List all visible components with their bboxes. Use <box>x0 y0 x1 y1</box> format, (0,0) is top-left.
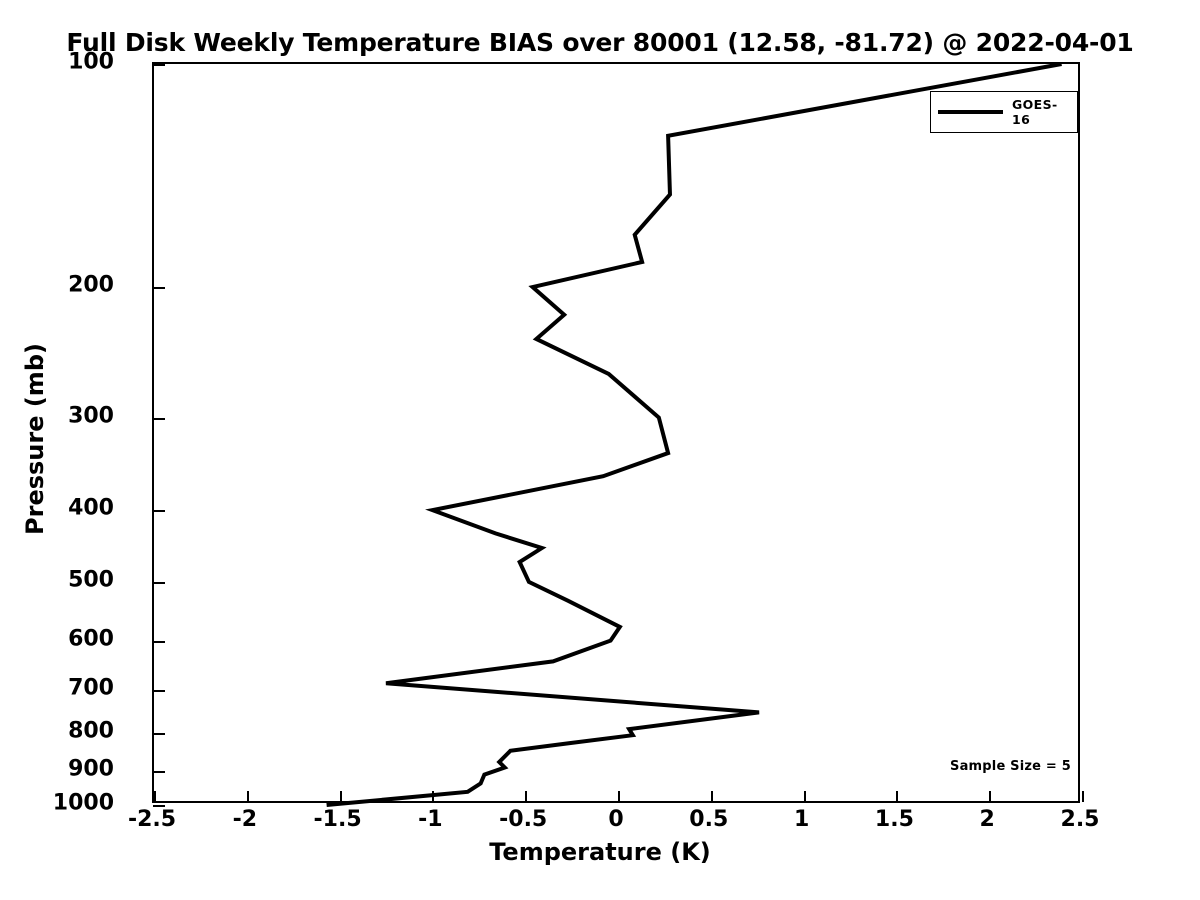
x-tick-label: -2.5 <box>128 807 176 832</box>
x-tick-label: 0 <box>608 807 623 832</box>
x-tick-mark <box>618 791 620 802</box>
y-tick-mark <box>153 418 165 420</box>
legend: GOES-16 <box>930 91 1078 133</box>
y-tick-mark <box>153 641 165 643</box>
y-tick-mark <box>153 690 165 692</box>
y-tick-mark <box>153 510 165 512</box>
legend-label-goes-16: GOES-16 <box>1012 97 1068 127</box>
series-line-goes-16 <box>327 64 1062 805</box>
sample-size-annotation: Sample Size = 5 <box>950 759 1071 774</box>
x-tick-label: 2 <box>980 807 995 832</box>
x-tick-label: -2 <box>233 807 257 832</box>
y-tick-label: 300 <box>68 403 114 428</box>
x-tick-label: -1.5 <box>314 807 362 832</box>
y-tick-mark <box>153 287 165 289</box>
data-series-goes-16 <box>154 64 1082 805</box>
y-tick-mark <box>153 771 165 773</box>
y-tick-label: 1000 <box>53 791 114 816</box>
y-tick-mark <box>153 64 165 66</box>
chart-root: Full Disk Weekly Temperature BIAS over 8… <box>0 0 1200 900</box>
x-tick-mark <box>247 791 249 802</box>
x-tick-mark <box>340 791 342 802</box>
y-axis-title: Pressure (mb) <box>21 129 49 749</box>
y-tick-label: 900 <box>68 757 114 782</box>
x-tick-mark <box>989 791 991 802</box>
x-tick-label: -1 <box>418 807 442 832</box>
y-tick-label: 800 <box>68 719 114 744</box>
x-tick-label: 1.5 <box>875 807 914 832</box>
x-axis-title: Temperature (K) <box>0 838 1200 866</box>
y-tick-mark <box>153 582 165 584</box>
x-tick-label: 0.5 <box>689 807 728 832</box>
x-tick-label: 2.5 <box>1061 807 1100 832</box>
x-tick-mark <box>711 791 713 802</box>
x-tick-mark <box>525 791 527 802</box>
page-title: Full Disk Weekly Temperature BIAS over 8… <box>0 28 1200 57</box>
x-tick-mark <box>432 791 434 802</box>
y-tick-label: 500 <box>68 567 114 592</box>
x-tick-label: 1 <box>794 807 809 832</box>
x-tick-mark <box>804 791 806 802</box>
x-tick-mark <box>1082 791 1084 802</box>
y-tick-label: 700 <box>68 676 114 701</box>
y-tick-label: 100 <box>68 50 114 75</box>
y-tick-mark <box>153 733 165 735</box>
plot-area: GOES-16 Sample Size = 5 <box>152 62 1080 803</box>
y-tick-label: 600 <box>68 626 114 651</box>
x-tick-mark <box>154 791 156 802</box>
y-tick-label: 200 <box>68 273 114 298</box>
x-tick-mark <box>896 791 898 802</box>
y-tick-label: 400 <box>68 496 114 521</box>
x-tick-label: -0.5 <box>499 807 547 832</box>
legend-swatch-goes-16 <box>938 110 1003 114</box>
